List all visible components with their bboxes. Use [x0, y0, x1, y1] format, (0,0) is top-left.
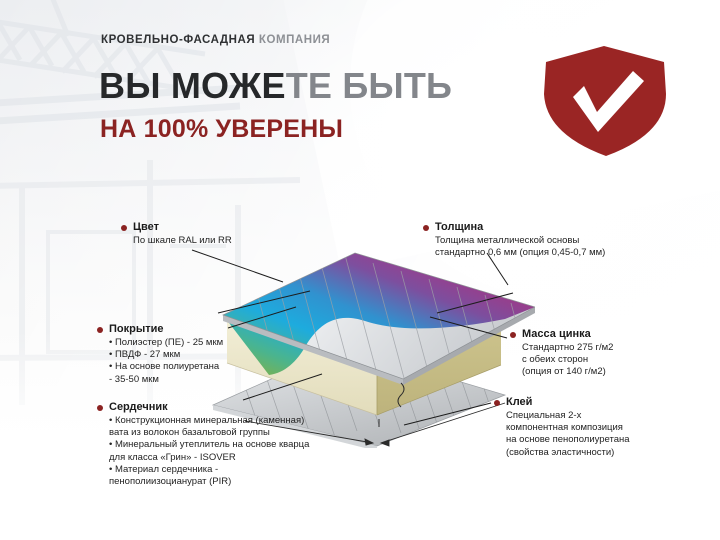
page-title: ВЫ МОЖЕТЕ БЫТЬ	[99, 68, 452, 104]
kicker-bold-part: КРОВЕЛЬНО-ФАСАДНАЯ	[101, 34, 255, 46]
svg-text:Avito: Avito	[660, 522, 683, 532]
bullet-icon	[97, 327, 103, 333]
callout-coating-title: Покрытие	[109, 323, 164, 337]
callout-zinc-title: Масса цинка	[522, 328, 591, 342]
page-subtitle: НА 100% УВЕРЕНЫ	[100, 117, 343, 142]
callout-glue-body: Специальная 2-х компонентная композиция …	[494, 410, 630, 459]
callout-thickness-title: Толщина	[435, 221, 483, 235]
callout-coating-body: • Полиэстер (ПЕ) - 25 мкм • ПВДФ - 27 мк…	[97, 337, 223, 386]
kicker-light-part: КОМПАНИЯ	[259, 34, 330, 46]
callout-coating: Покрытие • Полиэстер (ПЕ) - 25 мкм • ПВД…	[97, 323, 223, 386]
shield-check-icon	[540, 42, 670, 160]
company-kicker: КРОВЕЛЬНО-ФАСАДНАЯ КОМПАНИЯ	[101, 34, 330, 46]
callout-zinc-body: Стандартно 275 г/м2 с обеих сторон (опци…	[510, 342, 613, 379]
callout-core-title: Сердечник	[109, 401, 168, 415]
callout-color: Цвет По шкале RAL или RR	[121, 221, 232, 247]
bullet-icon	[121, 225, 127, 231]
headline-dark-part: ВЫ МОЖЕ	[99, 65, 286, 106]
callout-color-body: По шкале RAL или RR	[121, 235, 232, 247]
callout-color-title: Цвет	[133, 221, 159, 235]
bullet-icon	[97, 405, 103, 411]
callout-core: Сердечник • Конструкционная минеральная …	[97, 401, 309, 489]
avito-watermark: Avito Avito	[616, 496, 712, 534]
bullet-icon	[510, 332, 516, 338]
callout-glue-title: Клей	[506, 396, 532, 410]
callout-glue: Клей Специальная 2-х компонентная композ…	[494, 396, 630, 459]
headline-grey-part: ТЕ БЫТЬ	[286, 65, 452, 106]
bullet-icon	[423, 225, 429, 231]
callout-core-body: • Конструкционная минеральная (каменная)…	[97, 415, 309, 489]
callout-thickness: Толщина Толщина металлической основы ста…	[423, 221, 605, 259]
bullet-icon	[494, 400, 500, 406]
callout-thickness-body: Толщина металлической основы стандартно …	[423, 235, 605, 260]
poster-canvas: КРОВЕЛЬНО-ФАСАДНАЯ КОМПАНИЯ ВЫ МОЖЕТЕ БЫ…	[0, 0, 720, 540]
callout-zinc: Масса цинка Стандартно 275 г/м2 с обеих …	[510, 328, 613, 379]
